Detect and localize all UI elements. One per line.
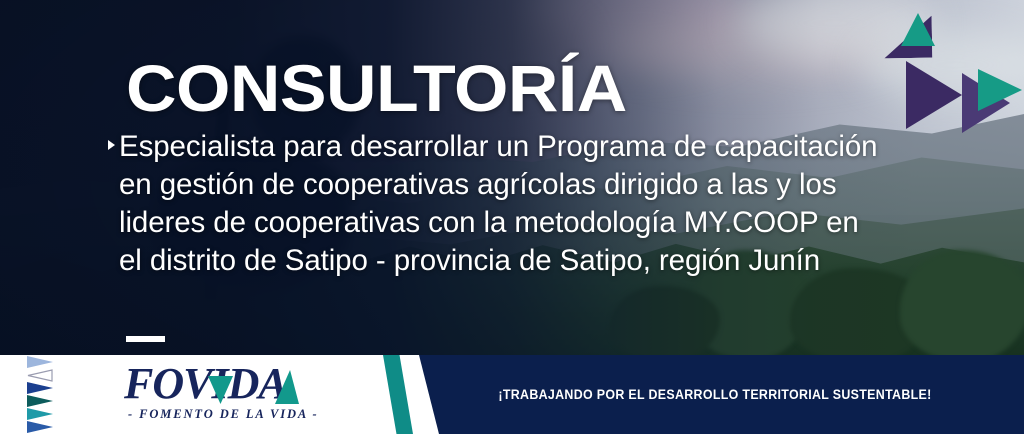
subheadline-row: Especialista para desarrollar un Program… (108, 128, 878, 280)
fovida-logo-tagline: - FOMENTO DE LA VIDA - (128, 407, 319, 422)
triangle-navy-icon (27, 382, 53, 394)
triangle-darkteal-icon (27, 395, 53, 407)
triangle-column-decoration (27, 356, 57, 434)
triangle-teal-icon (27, 408, 53, 420)
triangle-right-icon (108, 140, 115, 150)
subheadline-text: Especialista para desarrollar un Program… (119, 128, 878, 280)
divider-dash (126, 336, 165, 342)
footer-tagline: ¡TRABAJANDO POR EL DESARROLLO TERRITORIA… (476, 355, 954, 434)
triangle-lightblue-icon (27, 356, 53, 368)
triangle-blue-icon (27, 421, 53, 433)
consultancy-banner: CONSULTORÍA Especialista para desarrolla… (0, 0, 1024, 434)
page-title: CONSULTORÍA (126, 55, 627, 121)
footer-teal-stripe (383, 355, 413, 434)
fovida-wordmark: FOVIDA (124, 362, 287, 406)
fovida-logo: FOVIDA - FOMENTO DE LA VIDA - (124, 362, 374, 424)
triangle-outline-left-icon (27, 369, 53, 382)
